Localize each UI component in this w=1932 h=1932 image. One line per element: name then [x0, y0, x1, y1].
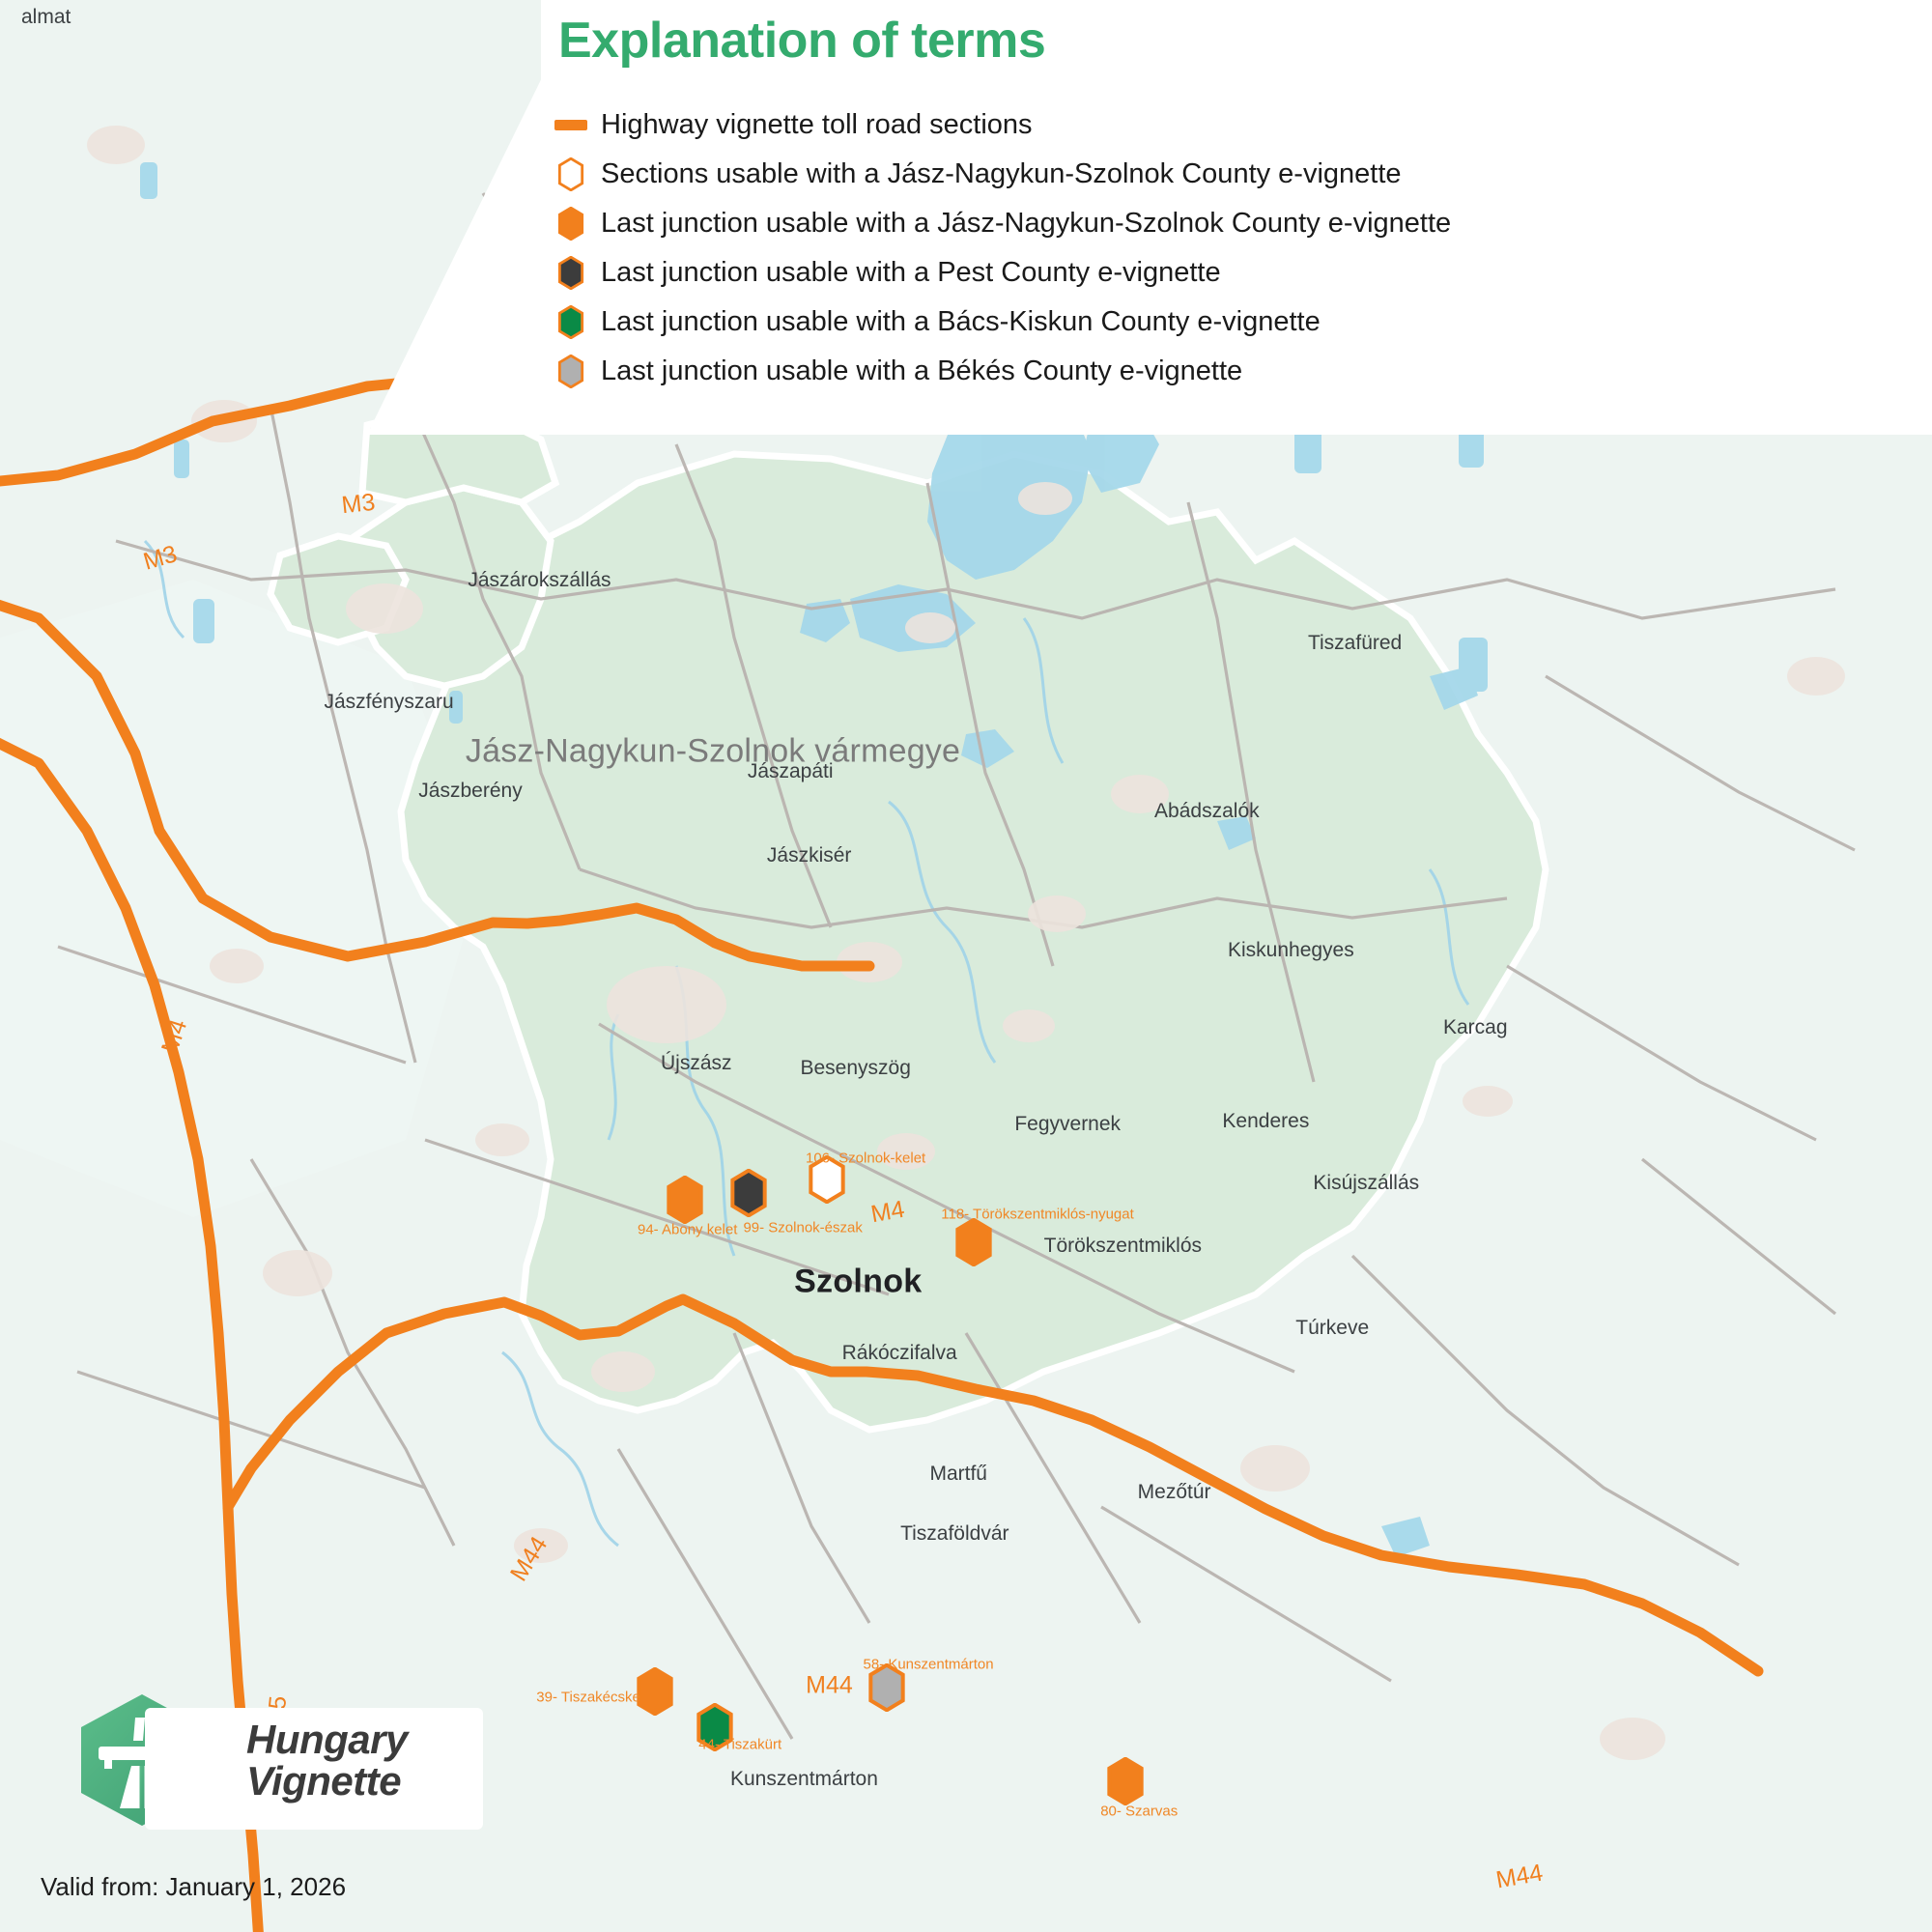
junction-marker-118[interactable]	[954, 1218, 993, 1266]
valid-from-text: Valid from: January 1, 2026	[41, 1872, 346, 1902]
legend-row: Last junction usable with a Bács-Kiskun …	[541, 298, 1932, 347]
brand-line-1: Hungary	[246, 1719, 408, 1761]
green-hexagon-icon	[541, 305, 601, 339]
dark-hexagon-icon	[541, 256, 601, 290]
brand-line-2: Vignette	[246, 1761, 408, 1803]
junction-marker-106[interactable]	[808, 1155, 846, 1204]
junction-marker-94[interactable]	[666, 1176, 704, 1224]
grey-hexagon-icon	[541, 355, 601, 388]
junction-marker-99[interactable]	[729, 1169, 768, 1217]
junction-marker-58[interactable]	[867, 1663, 906, 1712]
legend-row-label: Last junction usable with a Békés County…	[601, 357, 1242, 385]
brand-text: Hungary Vignette	[246, 1719, 408, 1803]
legend-row-label: Last junction usable with a Jász-Nagykun…	[601, 210, 1451, 238]
map-canvas: JászárokszállásJászfényszaruJászapátiJás…	[0, 0, 1932, 1932]
legend-row: Last junction usable with a Jász-Nagykun…	[541, 199, 1932, 248]
orange-line-icon	[541, 120, 601, 130]
legend-row-label: Highway vignette toll road sections	[601, 111, 1033, 139]
legend-row-label: Last junction usable with a Bács-Kiskun …	[601, 308, 1321, 336]
junction-marker-39[interactable]	[636, 1667, 674, 1716]
brand-logo[interactable]: Hungary Vignette	[39, 1694, 483, 1849]
legend-row: Sections usable with a Jász-Nagykun-Szol…	[541, 150, 1932, 199]
legend-row-list: Highway vignette toll road sectionsSecti…	[541, 100, 1932, 396]
hollow-hexagon-icon	[541, 157, 601, 191]
junction-marker-80[interactable]	[1106, 1757, 1145, 1805]
legend-title: Explanation of terms	[558, 12, 1932, 70]
junction-marker-44[interactable]	[696, 1703, 734, 1751]
orange-hexagon-icon	[541, 207, 601, 241]
legend-row-label: Last junction usable with a Pest County …	[601, 259, 1221, 287]
legend-row-label: Sections usable with a Jász-Nagykun-Szol…	[601, 160, 1402, 188]
legend-row: Last junction usable with a Békés County…	[541, 347, 1932, 396]
legend-row: Last junction usable with a Pest County …	[541, 248, 1932, 298]
legend-row: Highway vignette toll road sections	[541, 100, 1932, 150]
legend-panel: Explanation of terms Highway vignette to…	[541, 0, 1932, 435]
